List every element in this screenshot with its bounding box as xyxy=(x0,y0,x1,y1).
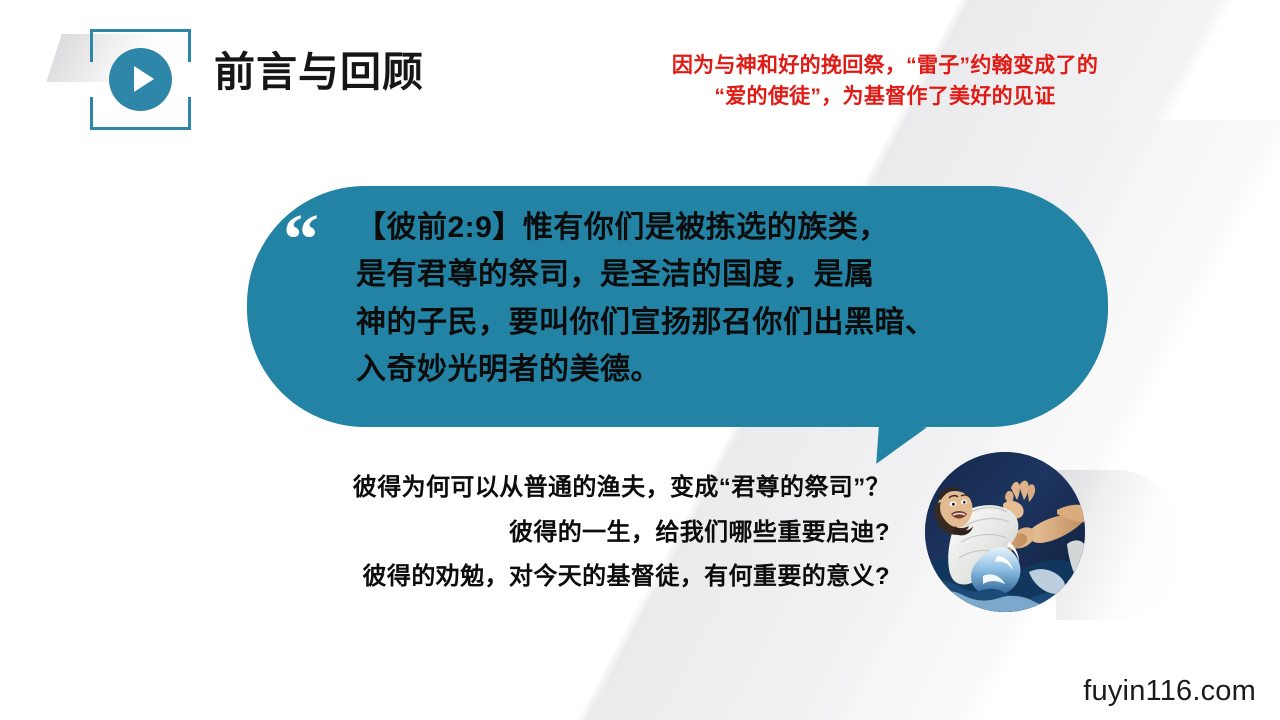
question-item-3: 彼得的劝勉，对今天的基督徒，有何重要的意义? xyxy=(200,555,890,600)
header-subtitle-line-2: “爱的使徒”，为基督作了美好的见证 xyxy=(540,81,1230,112)
illustration-artwork xyxy=(925,452,1085,612)
header-subtitle-line-1: 因为与神和好的挽回祭，“雷子”约翰变成了的 xyxy=(540,50,1230,81)
quote-mark-icon: “ xyxy=(283,203,317,275)
site-watermark: fuyin116.com xyxy=(1083,675,1256,708)
quote-bubble-tail xyxy=(876,424,927,467)
quote-text: 【彼前2:9】惟有你们是被拣选的族类， 是有君尊的祭司，是圣洁的国度，是属 神的… xyxy=(356,204,1056,394)
slide-canvas: 前言与回顾 因为与神和好的挽回祭，“雷子”约翰变成了的 “爱的使徒”，为基督作了… xyxy=(0,0,1280,720)
page-title: 前言与回顾 xyxy=(214,48,424,97)
quote-line-2: 是有君尊的祭司，是圣洁的国度，是属 xyxy=(356,251,1056,298)
play-circle-icon xyxy=(109,48,172,111)
play-button-icon xyxy=(90,29,191,130)
question-list: 彼得为何可以从普通的渔夫，变成“君尊的祭司”？ 彼得的一生，给我们哪些重要启迪?… xyxy=(200,466,890,600)
question-item-2: 彼得的一生，给我们哪些重要启迪? xyxy=(200,511,890,556)
question-item-1: 彼得为何可以从普通的渔夫，变成“君尊的祭司”？ xyxy=(200,466,890,511)
quote-line-4: 入奇妙光明者的美德。 xyxy=(356,346,1056,393)
header-subtitle: 因为与神和好的挽回祭，“雷子”约翰变成了的 “爱的使徒”，为基督作了美好的见证 xyxy=(540,50,1230,112)
quote-line-1: 【彼前2:9】惟有你们是被拣选的族类， xyxy=(356,204,1056,251)
quote-line-3: 神的子民，要叫你们宣扬那召你们出黑暗、 xyxy=(356,299,1056,346)
peter-sinking-illustration xyxy=(925,452,1085,612)
